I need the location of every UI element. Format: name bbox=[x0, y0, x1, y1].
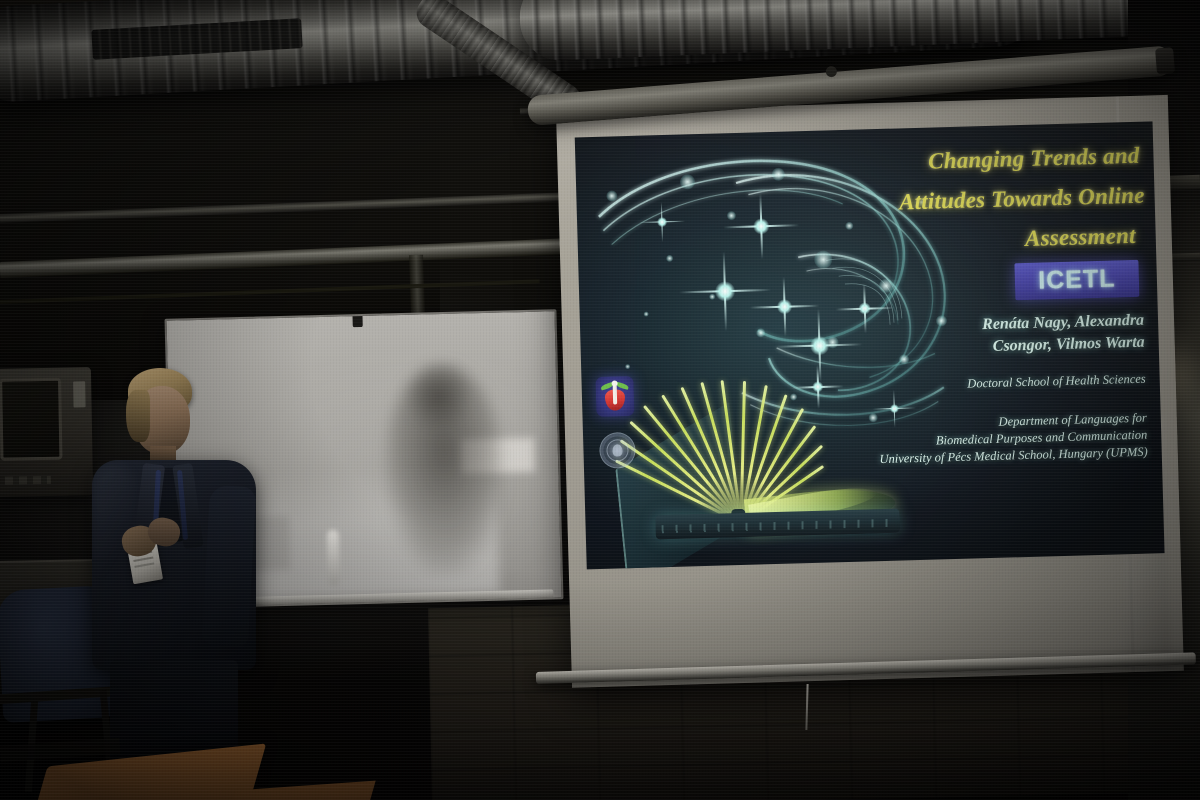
bokeh-dot bbox=[772, 168, 785, 181]
whiteboard-reflection-lamp bbox=[327, 529, 340, 585]
sparkle-star-icon bbox=[722, 187, 800, 265]
presenter-arm-right bbox=[202, 485, 256, 647]
lecture-hall-photo: Changing Trends and Attitudes Towards On… bbox=[0, 0, 1200, 800]
presenter bbox=[86, 368, 262, 800]
slide-affiliation-secondary: Department of Languages for Biomedical P… bbox=[747, 410, 1148, 472]
bokeh-dot bbox=[606, 190, 617, 201]
slide-title-line-3: Assessment bbox=[811, 216, 1136, 265]
slide-title: Changing Trends and Attitudes Towards On… bbox=[809, 136, 1142, 265]
slide-authors: Renáta Nagy, Alexandra Csongor, Vilmos W… bbox=[824, 310, 1145, 363]
logo-figure-body bbox=[613, 384, 618, 404]
presenter-hair-side bbox=[126, 390, 150, 442]
bokeh-dot bbox=[666, 255, 673, 262]
sparkle-star-icon bbox=[638, 198, 685, 245]
presenter-jacket-highlight bbox=[94, 464, 134, 584]
crt-monitor bbox=[0, 367, 93, 497]
bokeh-dot bbox=[680, 174, 695, 189]
icetl-logo: ICETL bbox=[1014, 260, 1139, 300]
roller-mount-icon bbox=[825, 66, 837, 78]
projected-slide: Changing Trends and Attitudes Towards On… bbox=[575, 121, 1165, 569]
whiteboard-cast-shadow-head bbox=[404, 359, 472, 433]
icetl-logo-text: ICETL bbox=[1038, 264, 1116, 295]
bokeh-dot bbox=[727, 211, 736, 220]
crt-monitor-buttons bbox=[5, 476, 51, 485]
crt-monitor-label bbox=[73, 381, 85, 407]
roller-end-cap bbox=[1155, 47, 1175, 74]
crt-monitor-screen bbox=[0, 378, 62, 461]
projection-screen: Changing Trends and Attitudes Towards On… bbox=[556, 95, 1184, 688]
upms-heart-logo-icon bbox=[595, 376, 634, 417]
seal-lion-emblem bbox=[612, 444, 622, 456]
whiteboard-clip-icon bbox=[353, 313, 363, 327]
